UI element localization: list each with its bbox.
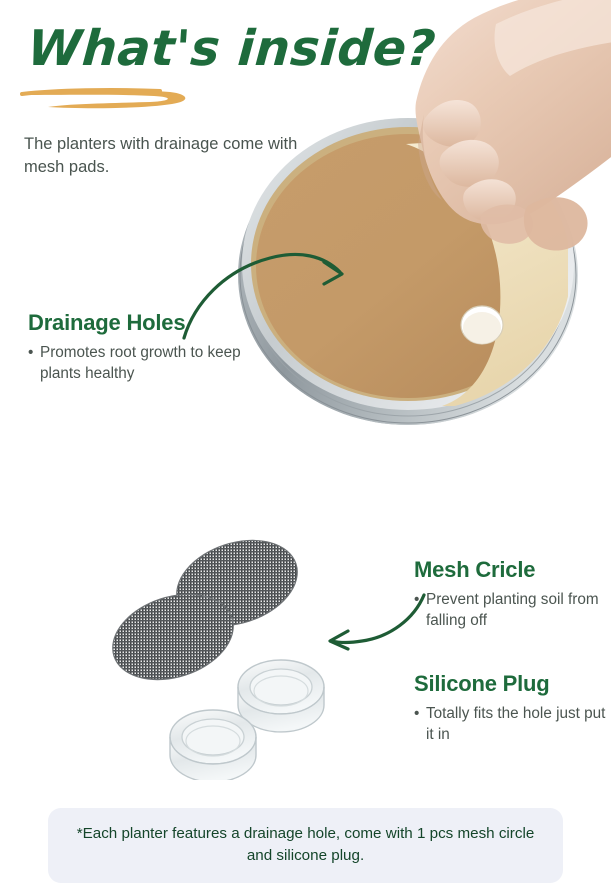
feature-drainage: Drainage Holes • Promotes root growth to… — [28, 311, 283, 384]
page-title: What's inside? — [26, 24, 369, 73]
feature-mesh: Mesh Cricle • Prevent planting soil from… — [414, 558, 611, 631]
feature-plug-title: Silicone Plug — [414, 672, 611, 696]
silicone-plug-lower — [170, 710, 256, 780]
gold-swoosh-icon — [20, 86, 205, 112]
feature-plug-text: Totally fits the hole just put it in — [426, 705, 605, 743]
drainage-hole-shadow — [463, 312, 501, 344]
page-subtitle: The planters with drainage come with mes… — [24, 133, 304, 180]
bullet-icon: • — [28, 342, 33, 363]
feature-mesh-text: Prevent planting soil from falling off — [426, 591, 599, 629]
silicone-plug-upper — [238, 660, 324, 732]
feature-drainage-text: Promotes root growth to keep plants heal… — [40, 344, 241, 382]
bullet-icon: • — [414, 703, 419, 724]
heading-group: What's inside? — [26, 24, 366, 73]
feature-mesh-title: Mesh Cricle — [414, 558, 611, 582]
feature-drainage-body: • Promotes root growth to keep plants he… — [28, 342, 283, 384]
footer-note: *Each planter features a drainage hole, … — [48, 808, 563, 883]
infographic-canvas: What's inside? The planters with drainag… — [0, 0, 611, 879]
feature-mesh-body: • Prevent planting soil from falling off — [414, 589, 611, 631]
bullet-icon: • — [414, 589, 419, 610]
feature-plug: Silicone Plug • Totally fits the hole ju… — [414, 672, 611, 745]
feature-drainage-title: Drainage Holes — [28, 311, 283, 335]
feature-plug-body: • Totally fits the hole just put it in — [414, 703, 611, 745]
parts-photo — [85, 515, 355, 780]
